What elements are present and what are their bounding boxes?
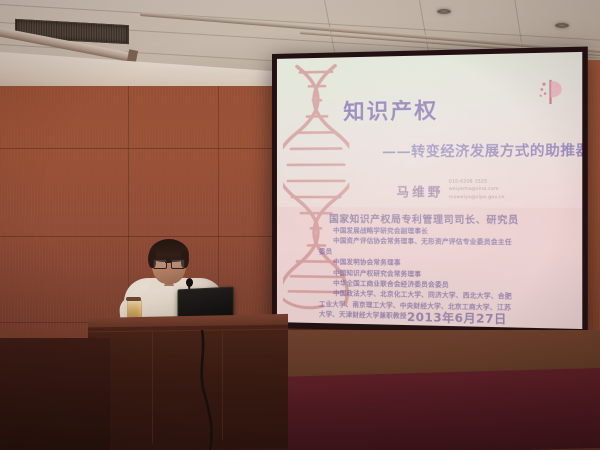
power-cable [196, 330, 240, 450]
slide-contact-block: 010-6208 3525 weiyema@sina.com mawelye@s… [449, 179, 505, 202]
contact-email-sina: weiyema@sina.com [449, 186, 505, 194]
lecture-hall-photograph: 知识产权 ——转变经济发展方式的助推器 马维野 010-6208 3525 we… [0, 0, 600, 450]
organization-logo-icon [535, 75, 568, 107]
projection-screen: 知识产权 ——转变经济发展方式的助推器 马维野 010-6208 3525 we… [272, 47, 588, 336]
contact-phone: 010-6208 3525 [449, 179, 505, 187]
eyeglasses-bridge [165, 262, 171, 263]
recessed-downlight [555, 23, 569, 28]
podium-front-panel [88, 325, 288, 450]
foreground-shadow [0, 338, 110, 450]
slide-presenter-name: 马维野 [397, 183, 444, 201]
slide-date: 2013年6月27日 [407, 309, 507, 328]
slide-title: 知识产权 [343, 94, 438, 126]
eyeglasses-lens-right [171, 259, 185, 269]
eyeglasses-lens-left [153, 259, 167, 269]
recessed-downlight [437, 9, 451, 14]
slide-subtitle: ——转变经济发展方式的助推器 [382, 138, 582, 160]
slide-credential-main: 国家知识产权局专利管理司司长、研究员 [329, 211, 519, 226]
microphone-head [186, 278, 193, 287]
tea-glass-lid [126, 297, 141, 301]
contact-email-sipo: mawelye@sipo.gov.cn [449, 194, 505, 202]
slide-surface: 知识产权 ——转变经济发展方式的助推器 马维野 010-6208 3525 we… [277, 52, 582, 329]
podium-panel-seam [152, 332, 153, 444]
